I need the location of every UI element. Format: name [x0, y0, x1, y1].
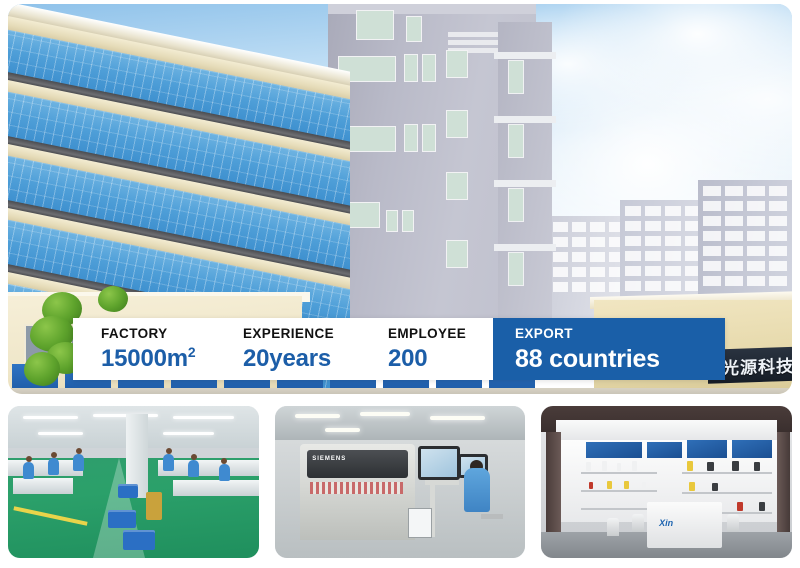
stats-bar: FACTORY 15000m2 EXPERIENCE 20years EMPLO…	[73, 318, 725, 380]
product-item	[712, 483, 718, 491]
product-item	[602, 461, 607, 471]
stat-value-employee: 200	[388, 346, 493, 371]
worker	[48, 458, 59, 475]
worker	[219, 464, 230, 481]
worker-head	[76, 448, 82, 454]
worker-head	[166, 448, 172, 454]
stair-ledge	[494, 52, 556, 59]
tower-window	[422, 54, 436, 82]
booth-left-panel	[546, 432, 561, 548]
worker-head	[26, 456, 32, 462]
product-item	[689, 482, 695, 491]
ceiling-light	[295, 414, 340, 418]
product-item	[732, 461, 739, 471]
component-feeder-bank	[310, 482, 403, 494]
stat-value-export: 88 countries	[515, 346, 725, 372]
tower-window	[446, 172, 468, 200]
chair	[727, 514, 739, 532]
blue-crate	[108, 510, 136, 528]
document-holder	[408, 508, 432, 538]
tower-window	[402, 210, 414, 232]
tower-window	[356, 10, 394, 40]
stat-label-employee: EMPLOYEE	[388, 327, 493, 341]
booth-fascia	[556, 420, 777, 442]
stat-value-factory-text: 15000m	[101, 345, 188, 372]
tower-window	[404, 124, 418, 152]
blue-crate	[118, 484, 138, 498]
banner-panel	[732, 440, 772, 458]
worker-head	[191, 454, 197, 460]
banner-panel	[647, 442, 682, 458]
display-shelf	[581, 472, 656, 474]
stair-window	[508, 252, 524, 286]
reception-desk	[647, 502, 722, 548]
product-item	[687, 461, 693, 471]
yellow-box	[146, 492, 162, 520]
stool	[481, 514, 503, 519]
product-item	[754, 462, 760, 471]
product-item	[586, 462, 591, 471]
display-shelf	[581, 490, 656, 492]
stat-label-experience: EXPERIENCE	[243, 327, 360, 341]
booth-logo: Xin	[659, 518, 673, 528]
tower-window	[422, 124, 436, 152]
ceiling-light	[430, 416, 485, 420]
stair-tower	[498, 22, 552, 334]
operator	[464, 468, 490, 512]
tower-window	[386, 210, 398, 232]
tower-window	[404, 54, 418, 82]
thumbnail-assembly-line[interactable]	[8, 406, 259, 558]
machine-window	[307, 450, 407, 478]
product-item	[759, 502, 765, 511]
banner-panel	[687, 440, 727, 458]
stat-employee: EMPLOYEE 200	[360, 318, 493, 380]
product-item	[624, 481, 629, 489]
worker	[188, 460, 199, 477]
display-shelf	[682, 472, 772, 474]
chair	[607, 518, 619, 536]
tower-window	[446, 110, 468, 138]
product-item	[607, 481, 612, 489]
stair-ledge	[494, 116, 556, 123]
tower-window	[446, 50, 468, 78]
monitor-screen	[421, 449, 457, 477]
product-item	[737, 502, 743, 511]
ceiling-light	[360, 412, 410, 416]
stair-ledge	[494, 180, 556, 187]
worker	[23, 462, 34, 479]
thumbnail-smt-machine[interactable]: SIEMENS	[275, 406, 526, 558]
tree	[24, 352, 60, 386]
booth-right-panel	[777, 432, 790, 548]
ceiling-light	[163, 432, 213, 435]
work-bench	[8, 460, 83, 476]
company-profile-banner: 光源科技 FACTORY 15000m2 EXPERIENCE 20years …	[0, 0, 800, 568]
worker	[163, 454, 174, 471]
stair-window	[508, 124, 524, 158]
blue-crate	[123, 530, 155, 550]
siemens-brand-label: SIEMENS	[312, 456, 346, 462]
stair-window	[508, 188, 524, 222]
ceiling-light	[38, 432, 83, 435]
stat-value-experience: 20years	[243, 346, 360, 371]
tower-window	[406, 16, 422, 42]
stat-export: EXPORT 88 countries	[493, 318, 725, 380]
product-item	[642, 482, 646, 489]
stat-factory: FACTORY 15000m2	[73, 318, 215, 380]
stair-window	[508, 60, 524, 94]
worker	[73, 454, 84, 471]
display-shelf	[682, 492, 772, 494]
stat-experience: EXPERIENCE 20years	[215, 318, 360, 380]
worker-head	[51, 452, 57, 458]
ceiling-light	[325, 428, 360, 432]
product-item	[617, 463, 621, 471]
stat-label-export: EXPORT	[515, 327, 725, 341]
stair-ledge	[494, 244, 556, 251]
product-item	[707, 462, 714, 471]
product-item	[632, 461, 637, 471]
work-bench	[173, 480, 258, 496]
thumbnail-exhibition-booth[interactable]: Xin	[541, 406, 792, 558]
chair	[632, 514, 644, 532]
tower-window	[446, 240, 468, 268]
work-bench	[13, 478, 73, 494]
ceiling-light	[23, 416, 78, 419]
thumbnail-row: SIEMENS	[8, 406, 792, 558]
product-item	[589, 482, 593, 489]
banner-panel	[586, 442, 641, 458]
ceiling-light	[173, 416, 233, 419]
stat-value-factory: 15000m2	[101, 346, 215, 371]
stat-value-factory-superscript: 2	[188, 344, 196, 360]
display-shelf	[581, 508, 656, 510]
machine-monitor	[418, 446, 460, 480]
tree	[98, 286, 128, 312]
stat-label-factory: FACTORY	[101, 327, 215, 341]
